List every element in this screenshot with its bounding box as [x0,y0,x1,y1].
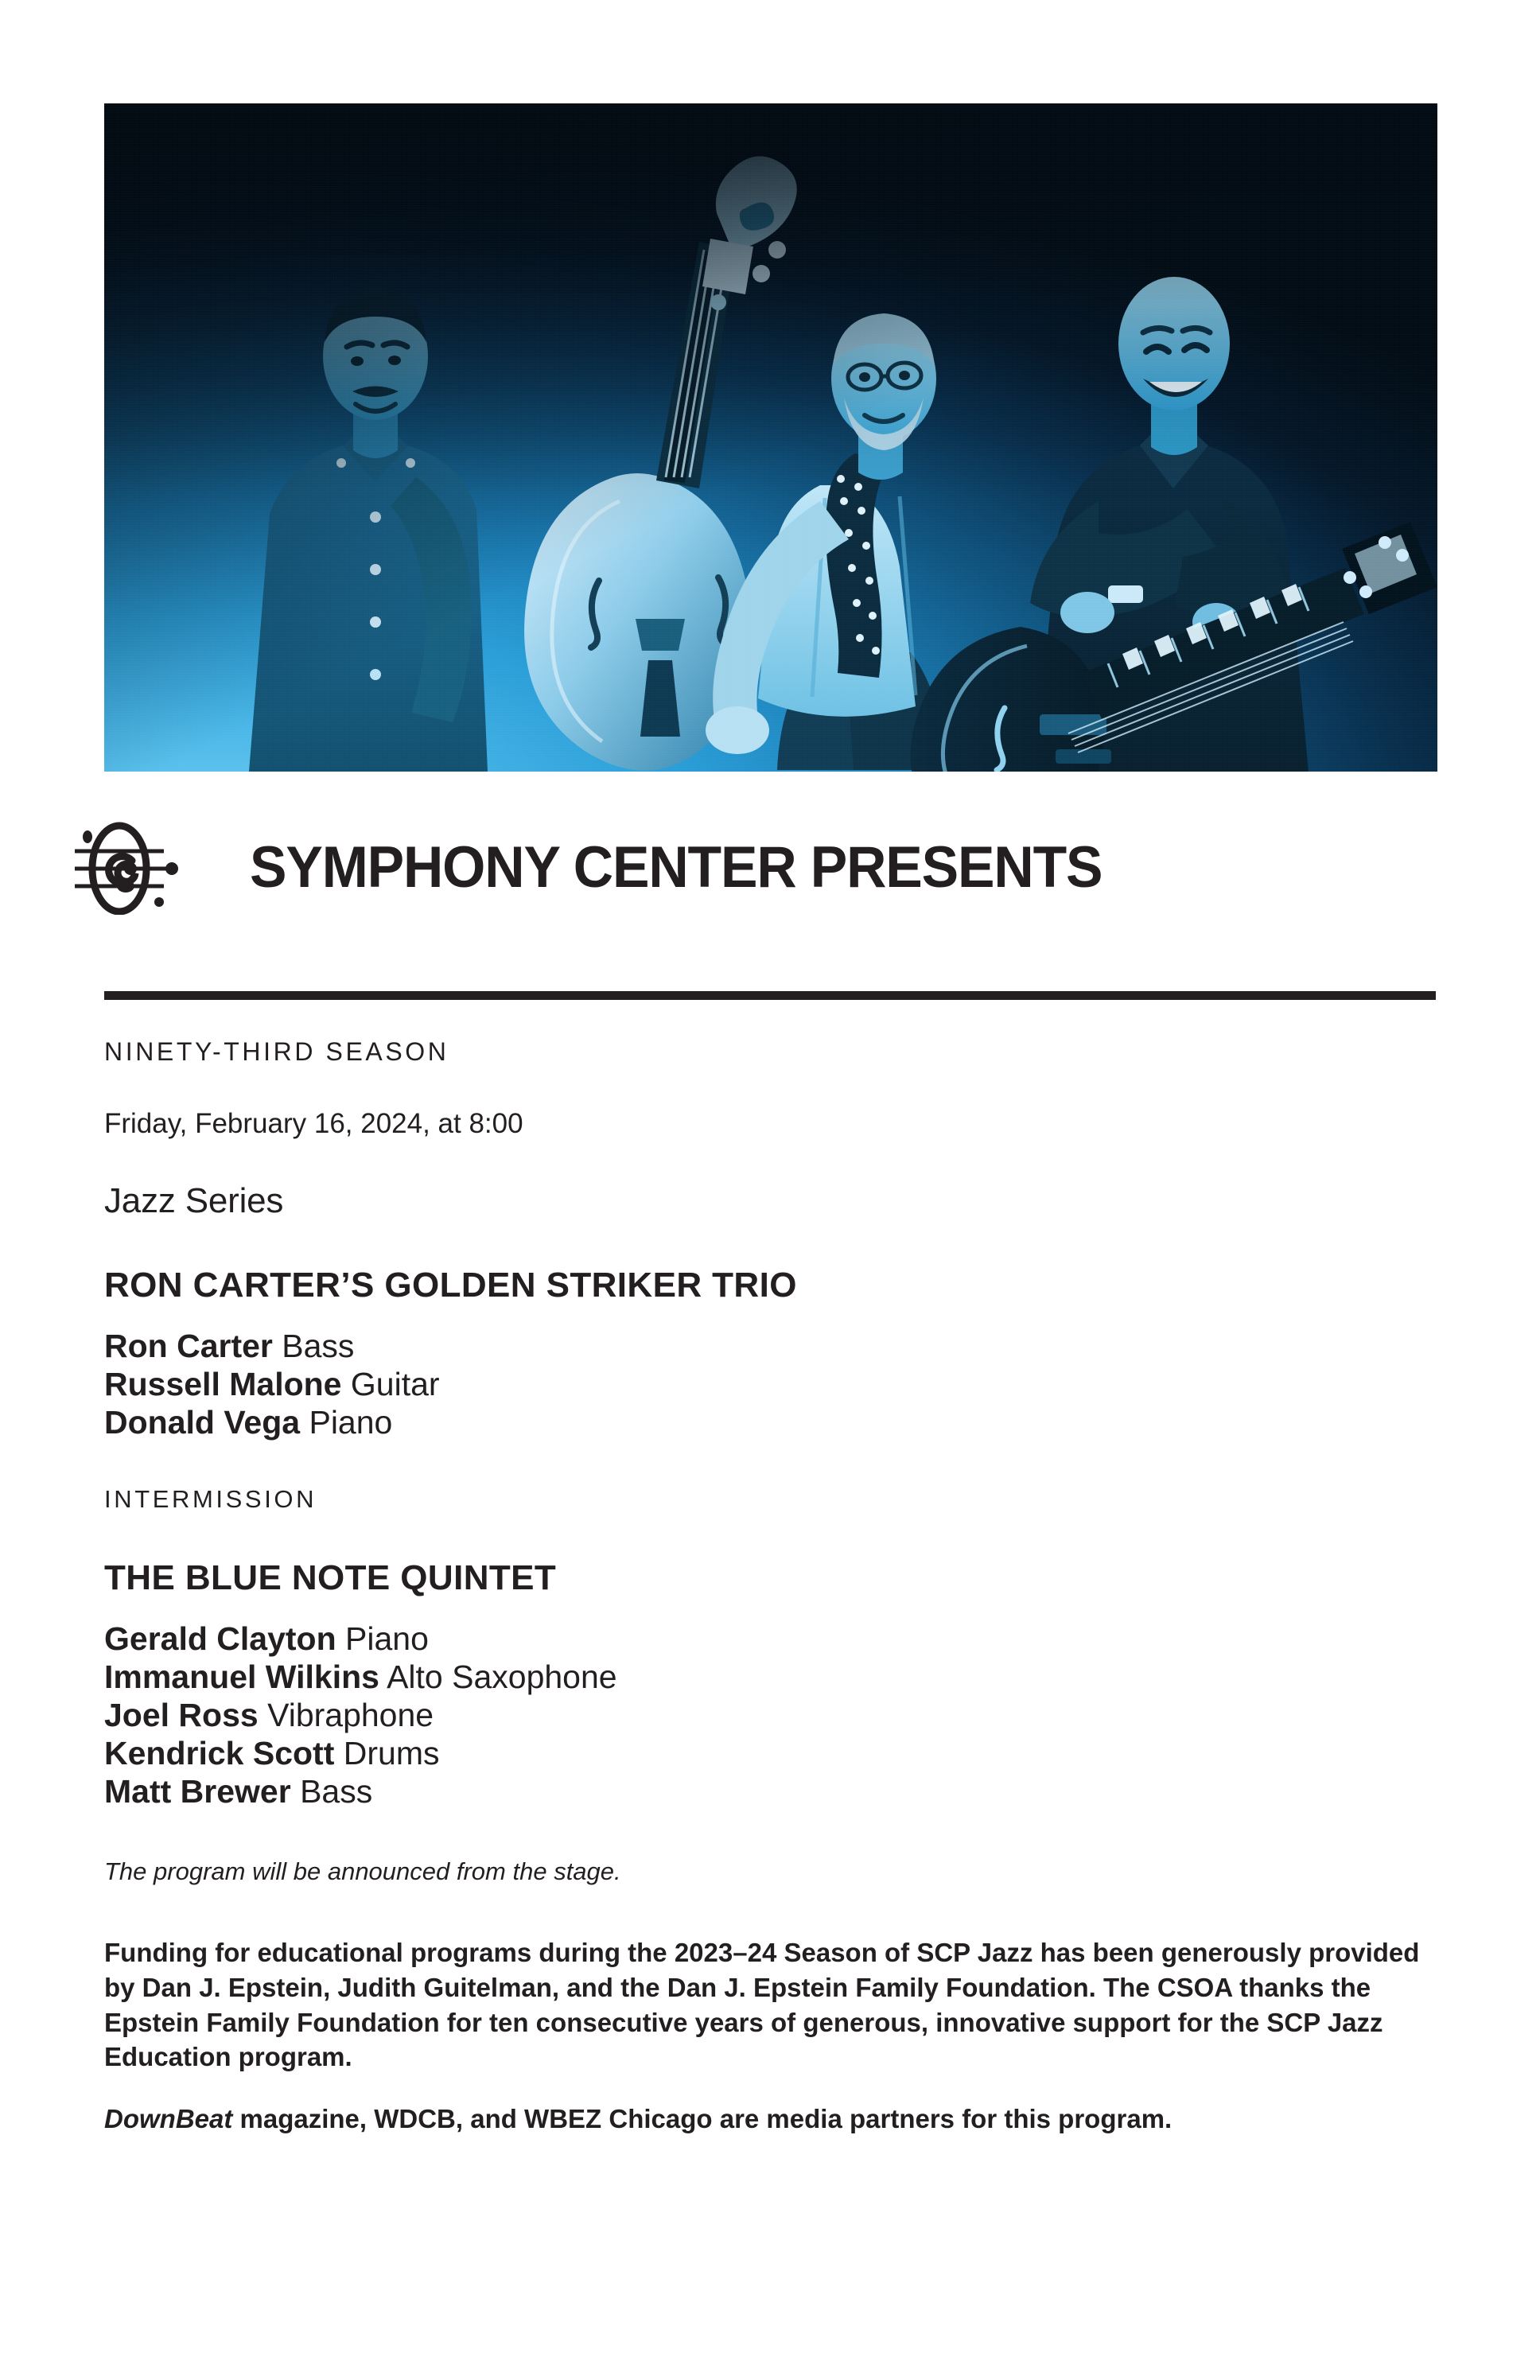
performer-name: Matt Brewer [104,1773,291,1810]
performer-row: Kendrick Scott Drums [104,1735,1441,1773]
page-title: SYMPHONY CENTER PRESENTS [250,838,1102,896]
performer-instrument: Guitar [351,1366,440,1402]
performer-instrument: Vibraphone [267,1697,434,1733]
header-divider [104,991,1436,1000]
performer-name: Joel Ross [104,1697,259,1733]
performer-row: Matt Brewer Bass [104,1773,1441,1811]
media-partners-credit: DownBeat magazine, WDCB, and WBEZ Chicag… [104,2102,1441,2137]
performer-instrument: Piano [345,1620,429,1657]
intermission-label: INTERMISSION [104,1485,1441,1514]
performer-instrument: Drums [344,1735,440,1771]
performer-row: Joel Ross Vibraphone [104,1697,1441,1735]
performer-name: Donald Vega [104,1404,300,1441]
performer-instrument: Bass [282,1328,354,1364]
photo-grain [104,103,1437,772]
performer-instrument: Alto Saxophone [387,1659,617,1695]
performer-name: Ron Carter [104,1328,273,1364]
artist-photo [104,103,1437,772]
performer-list-1: Ron Carter Bass Russell Malone Guitar Do… [104,1328,1441,1442]
program-body: NINETY-THIRD SEASON Friday, February 16,… [104,1010,1441,2137]
season-label: NINETY-THIRD SEASON [104,1037,1441,1067]
stage-announcement-note: The program will be announced from the s… [104,1857,1441,1886]
brand-lockup: SYMPHONY CENTER PRESENTS [70,819,1446,915]
performer-row: Russell Malone Guitar [104,1366,1441,1404]
performer-row: Immanuel Wilkins Alto Saxophone [104,1659,1441,1697]
performance-datetime: Friday, February 16, 2024, at 8:00 [104,1108,1441,1140]
series-label: Jazz Series [104,1181,1441,1221]
program-page: SYMPHONY CENTER PRESENTS NINETY-THIRD SE… [0,0,1540,2380]
performer-row: Ron Carter Bass [104,1328,1441,1366]
media-partner-publication: DownBeat [104,2104,232,2133]
performer-name: Gerald Clayton [104,1620,336,1657]
performer-instrument: Bass [300,1773,372,1810]
funding-credit: Funding for educational programs during … [104,1935,1441,2075]
performer-name: Immanuel Wilkins [104,1659,379,1695]
performer-name: Russell Malone [104,1366,341,1402]
symphony-center-clef-logo-icon [70,819,229,915]
performer-instrument: Piano [309,1404,392,1441]
performer-name: Kendrick Scott [104,1735,334,1771]
ensemble-title-1: RON CARTER’S GOLDEN STRIKER TRIO [104,1266,1441,1305]
performer-row: Gerald Clayton Piano [104,1620,1441,1659]
performer-list-2: Gerald Clayton Piano Immanuel Wilkins Al… [104,1620,1441,1811]
ensemble-title-2: THE BLUE NOTE QUINTET [104,1558,1441,1598]
media-partner-text: magazine, WDCB, and WBEZ Chicago are med… [232,2104,1172,2133]
performer-row: Donald Vega Piano [104,1404,1441,1442]
